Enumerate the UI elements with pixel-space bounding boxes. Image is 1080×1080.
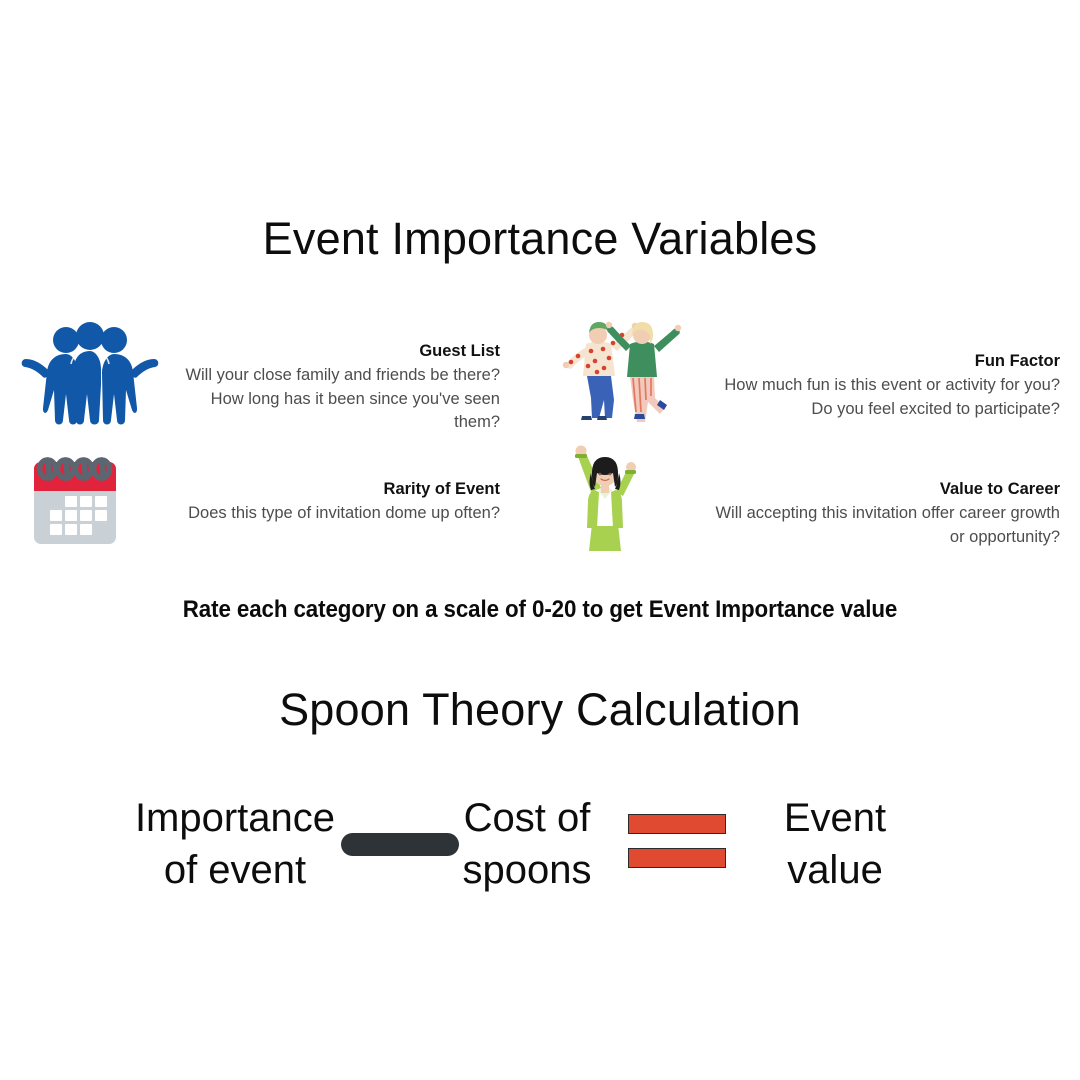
- celebrating-woman-icon: [560, 440, 650, 555]
- variable-heading: Rarity of Event: [146, 478, 500, 500]
- equals-sign-icon: [628, 814, 726, 868]
- equation-term-importance-line-2: of event: [110, 844, 360, 896]
- equation-term-cost: Cost of spoons: [437, 792, 617, 896]
- equation-term-cost-line-1: Cost of: [437, 792, 617, 844]
- variable-block-rarity-of-event: Rarity of Event Does this type of invita…: [20, 440, 500, 550]
- variable-block-fun-factor: Fun Factor How much fun is this event or…: [560, 318, 1060, 423]
- variable-text-rarity-of-event: Rarity of Event Does this type of invita…: [130, 440, 500, 526]
- dancing-couple-icon: [560, 318, 695, 423]
- variable-block-value-to-career: Value to Career Will accepting this invi…: [560, 440, 1060, 555]
- variable-description-line-2: Do you feel excited to participate?: [705, 398, 1060, 421]
- variable-text-guest-list: Guest List Will your close family and fr…: [160, 318, 500, 435]
- variable-description-line-2: How long has it been since you've seen t…: [176, 388, 500, 435]
- variable-heading: Fun Factor: [705, 350, 1060, 372]
- equation-term-cost-line-2: spoons: [437, 844, 617, 896]
- equals-bar-top: [628, 814, 726, 834]
- equals-bar-bottom: [628, 848, 726, 868]
- equation-term-importance-line-1: Importance: [110, 792, 360, 844]
- calendar-icon: [20, 440, 130, 550]
- equation-term-event-value-line-1: Event: [745, 792, 925, 844]
- equation-term-importance: Importance of event: [110, 792, 360, 896]
- equation-term-event-value: Event value: [745, 792, 925, 896]
- page-title: Event Importance Variables: [0, 213, 1080, 265]
- variable-text-value-to-career: Value to Career Will accepting this invi…: [650, 440, 1060, 549]
- spoon-theory-equation: Importance of event Cost of spoons Event…: [0, 792, 1080, 907]
- equation-term-event-value-line-2: value: [745, 844, 925, 896]
- variable-heading: Value to Career: [660, 478, 1060, 500]
- variable-description-line-2: or opportunity?: [660, 526, 1060, 549]
- infographic-canvas: Event Importance Variables: [0, 0, 1080, 1080]
- variable-description-line-1: Does this type of invitation dome up oft…: [146, 502, 500, 525]
- variable-description-line-1: How much fun is this event or activity f…: [705, 374, 1060, 397]
- variable-text-fun-factor: Fun Factor How much fun is this event or…: [695, 318, 1060, 421]
- variable-heading: Guest List: [176, 340, 500, 362]
- minus-sign-icon: [341, 833, 459, 856]
- group-of-friends-icon: [20, 318, 160, 428]
- section-title-spoon-theory: Spoon Theory Calculation: [0, 684, 1080, 736]
- rating-instruction: Rate each category on a scale of 0-20 to…: [38, 596, 1042, 624]
- variable-description-line-1: Will accepting this invitation offer car…: [660, 502, 1060, 525]
- variable-description-line-1: Will your close family and friends be th…: [176, 364, 500, 387]
- variable-block-guest-list: Guest List Will your close family and fr…: [20, 318, 500, 435]
